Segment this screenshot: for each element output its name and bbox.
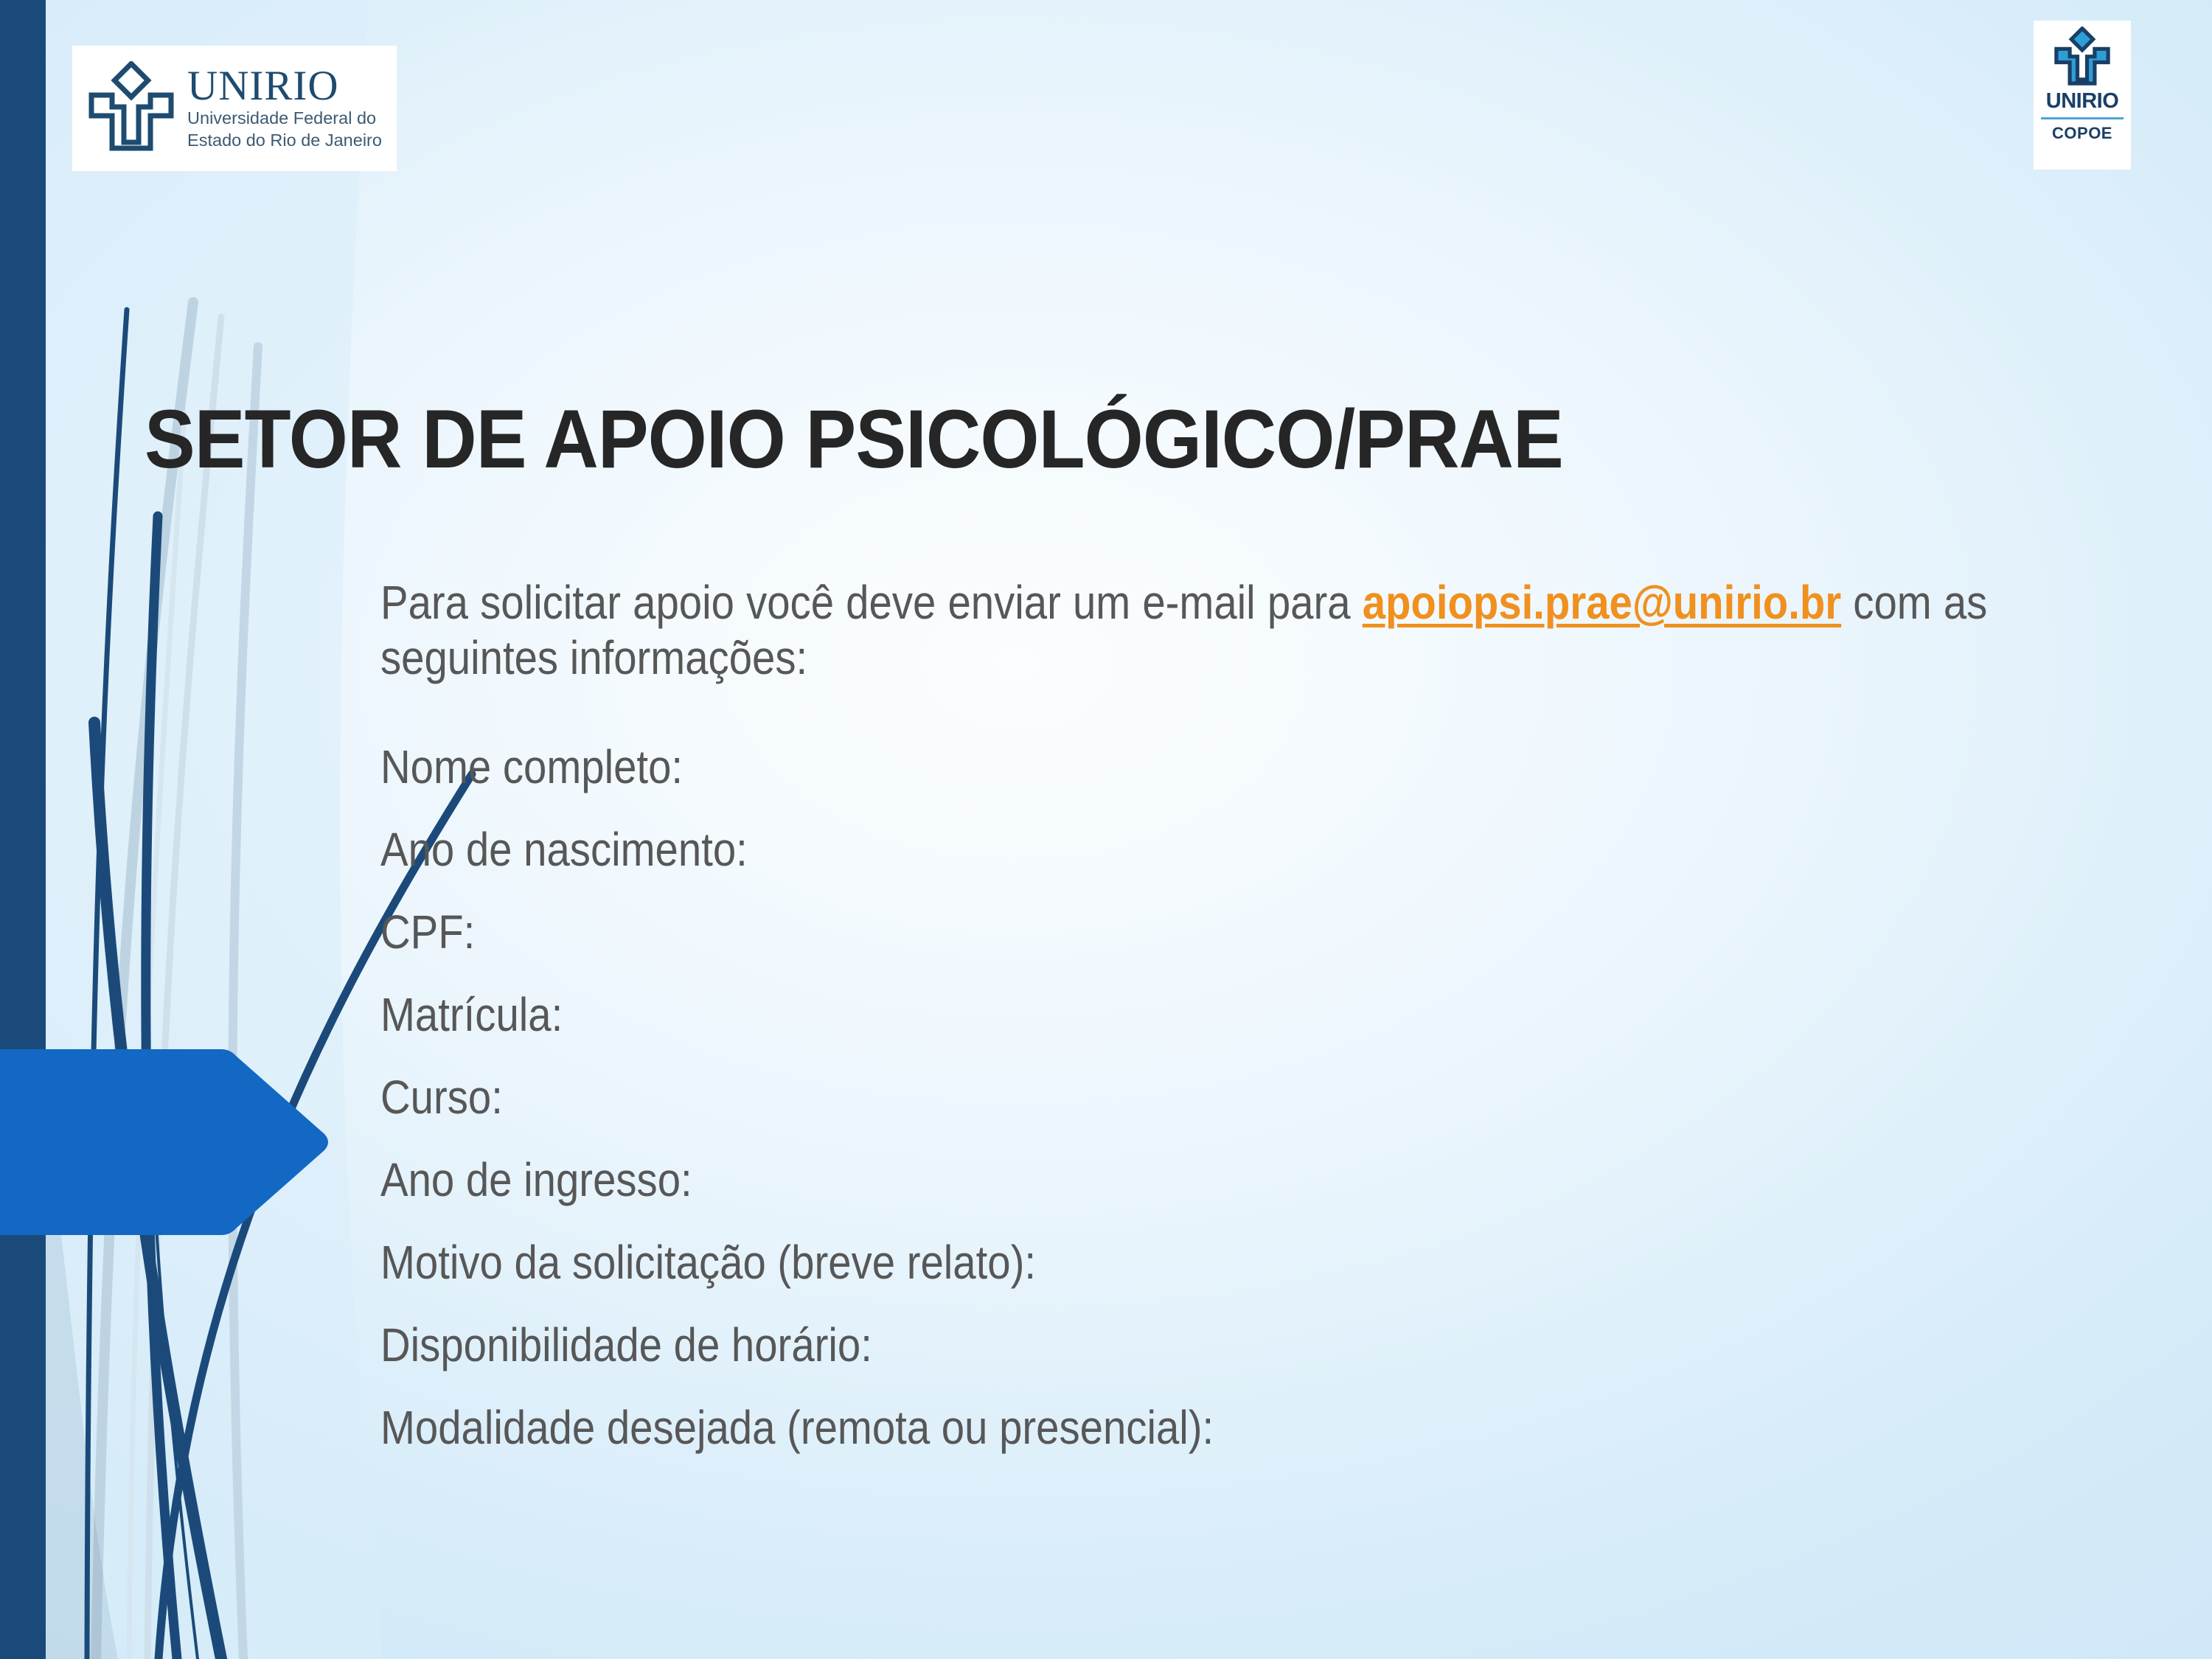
required-fields-list: Nome completo: Ano de nascimento: CPF: M… bbox=[380, 743, 1987, 1451]
copoe-emblem-icon bbox=[2053, 27, 2111, 88]
decor-curve-light-3 bbox=[232, 347, 258, 1659]
decor-curve-dark-5 bbox=[145, 914, 198, 1659]
list-item: Modalidade desejada (remota ou presencia… bbox=[380, 1404, 1987, 1451]
decor-curve-light-4 bbox=[129, 413, 184, 1659]
copoe-divider bbox=[2041, 117, 2124, 119]
email-link[interactable]: apoiopsi.prae@unirio.br bbox=[1363, 576, 1841, 629]
unirio-wordmark: UNIRIO bbox=[187, 66, 338, 106]
slide-body: Para solicitar apoio você deve enviar um… bbox=[380, 575, 1988, 1486]
list-item: Matrícula: bbox=[380, 991, 1987, 1038]
list-item: Disponibilidade de horário: bbox=[380, 1321, 1987, 1368]
list-item: Motivo da solicitação (breve relato): bbox=[380, 1239, 1987, 1286]
decor-curve-light-1 bbox=[96, 302, 193, 1659]
blue-arrow-shape bbox=[0, 1046, 332, 1239]
left-panel-shape bbox=[46, 0, 383, 1659]
unirio-subtitle-line2: Estado do Rio de Janeiro bbox=[187, 130, 382, 150]
unirio-emblem-icon bbox=[87, 61, 175, 156]
list-item: Ano de nascimento: bbox=[380, 826, 1987, 873]
list-item: Ano de ingresso: bbox=[380, 1156, 1987, 1203]
unirio-subtitle-line1: Universidade Federal do bbox=[187, 108, 376, 128]
copoe-wordmark: UNIRIO bbox=[2046, 89, 2119, 114]
presentation-slide: UNIRIO Universidade Federal do Estado do… bbox=[0, 0, 2212, 1659]
copoe-logo: UNIRIO COPOE bbox=[2034, 21, 2131, 170]
list-item: CPF: bbox=[380, 908, 1987, 956]
decor-curve-light-2 bbox=[147, 317, 221, 1659]
list-item: Curso: bbox=[380, 1074, 1987, 1121]
page-title: SETOR DE APOIO PSICOLÓGICO/PRAE bbox=[145, 396, 2003, 483]
intro-paragraph: Para solicitar apoio você deve enviar um… bbox=[380, 575, 1987, 686]
intro-text-before-email: Para solicitar apoio você deve enviar um… bbox=[380, 576, 1363, 629]
unirio-logo: UNIRIO Universidade Federal do Estado do… bbox=[72, 46, 397, 171]
copoe-unit-label: COPOE bbox=[2052, 124, 2112, 143]
decor-curve-dark-1 bbox=[87, 310, 127, 1659]
left-accent-bar bbox=[0, 0, 46, 1659]
list-item: Nome completo: bbox=[380, 743, 1987, 790]
